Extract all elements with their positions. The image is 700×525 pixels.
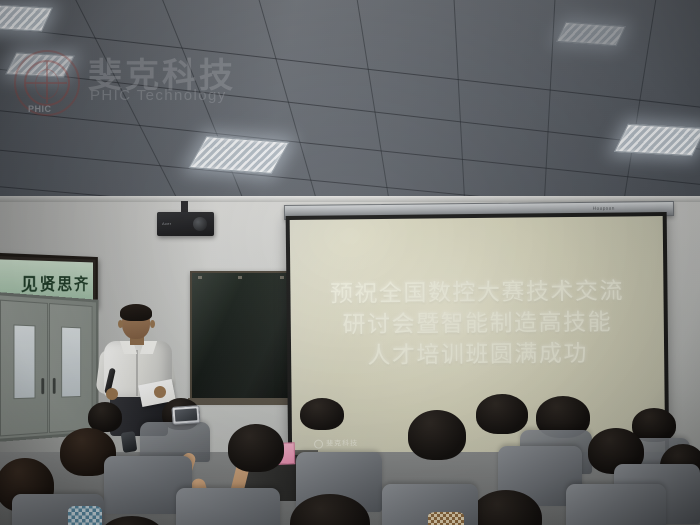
presenter-hair bbox=[120, 304, 152, 321]
ceiling-light-panel bbox=[556, 22, 626, 46]
audience-head bbox=[408, 410, 466, 460]
projector-lens-icon bbox=[193, 217, 207, 231]
door-glass-panel bbox=[61, 327, 81, 398]
door-handle-icon[interactable] bbox=[41, 378, 44, 394]
door-glass-panel bbox=[13, 324, 35, 399]
projector-brand-label: Acer bbox=[162, 221, 171, 226]
phone-device[interactable] bbox=[171, 405, 200, 425]
screen-brand-label: Hoopson bbox=[593, 206, 615, 211]
chair-back bbox=[566, 484, 666, 525]
chair-back bbox=[176, 488, 280, 525]
brand-watermark: PHIC 斐克科技 PHIC Technology bbox=[14, 44, 244, 114]
audience-head bbox=[476, 394, 528, 434]
audience-head bbox=[100, 516, 164, 525]
conference-room-photo: PHIC 斐克科技 PHIC Technology 见贤思齐 Acer bbox=[0, 0, 700, 525]
audience-torso bbox=[428, 512, 464, 525]
audience-head bbox=[300, 398, 344, 430]
presenter-hand-right bbox=[154, 386, 166, 398]
chalkboard bbox=[190, 271, 292, 400]
audience-area bbox=[0, 398, 700, 525]
watermark-badge-text: PHIC bbox=[28, 104, 52, 114]
ceiling-light-panel bbox=[189, 136, 290, 174]
ceiling-light-panel bbox=[614, 124, 700, 156]
door-handle-icon[interactable] bbox=[53, 378, 56, 394]
plaque-text: 见贤思齐 bbox=[21, 269, 90, 295]
ceiling-projector: Acer bbox=[157, 212, 214, 236]
audience-torso bbox=[68, 506, 102, 525]
phone-device[interactable] bbox=[121, 431, 138, 453]
watermark-brand-en: PHIC Technology bbox=[90, 87, 227, 104]
audience-head bbox=[228, 424, 284, 472]
